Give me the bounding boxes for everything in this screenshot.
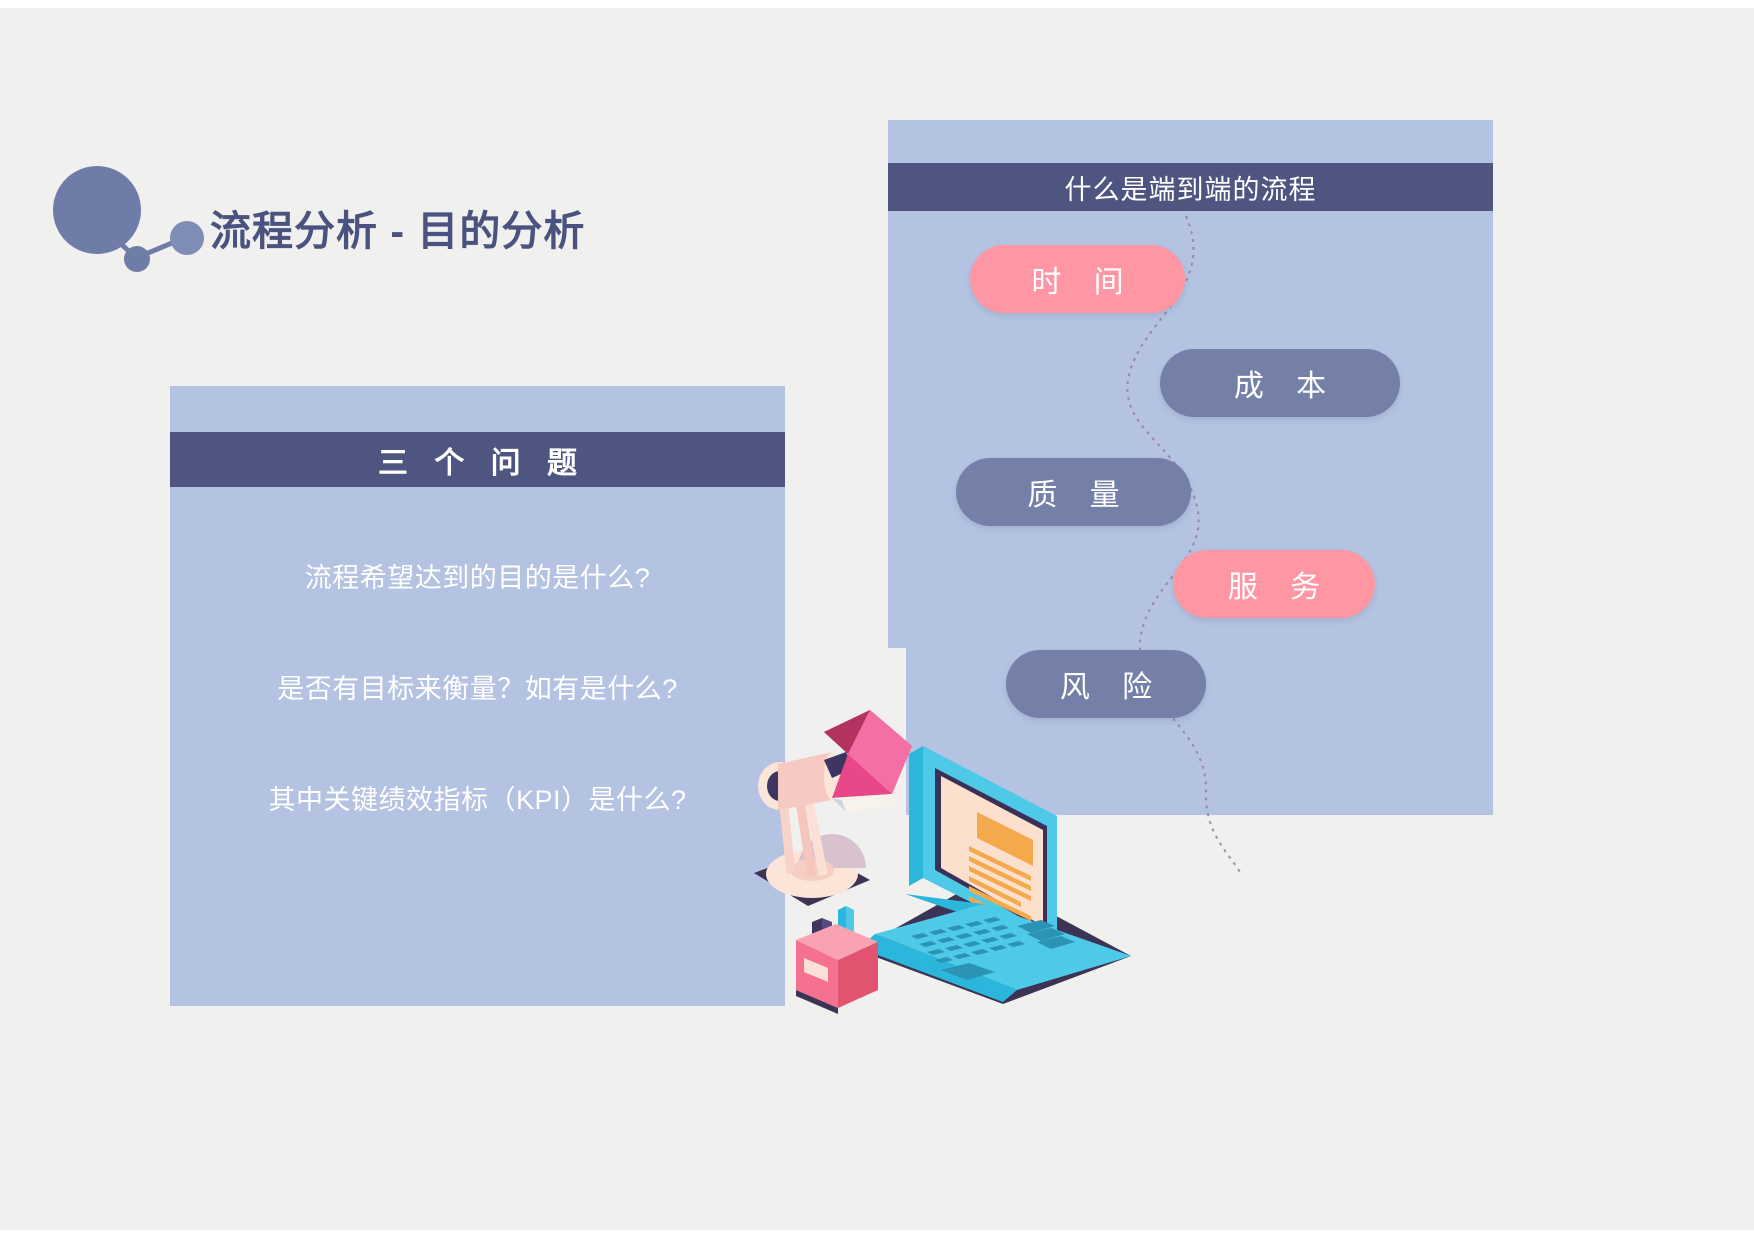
three-questions-panel: 三 个 问 题 流程希望达到的目的是什么? 是否有目标来衡量？如有是什么? 其中… xyxy=(170,386,785,1006)
process-pill-3[interactable]: 质 量 xyxy=(956,458,1191,526)
three-questions-header-label: 三 个 问 题 xyxy=(369,438,586,482)
question-item-1: 流程希望达到的目的是什么? xyxy=(305,556,651,595)
page-title: 流程分析 - 目的分析 xyxy=(210,197,585,257)
slide-title-block: 流程分析 - 目的分析 xyxy=(0,8,900,308)
slide-canvas: 流程分析 - 目的分析 三 个 问 题 流程希望达到的目的是什么? 是否有目标来… xyxy=(0,8,1754,1230)
question-item-3: 其中关键绩效指标（KPI）是什么? xyxy=(268,778,686,817)
end-to-end-process-header-label: 什么是端到端的流程 xyxy=(1065,168,1317,207)
question-list: 流程希望达到的目的是什么? 是否有目标来衡量？如有是什么? 其中关键绩效指标（K… xyxy=(170,556,785,817)
end-to-end-process-header: 什么是端到端的流程 xyxy=(888,163,1493,211)
pen-holder-icon xyxy=(782,896,892,1026)
process-pill-4[interactable]: 服 务 xyxy=(1173,550,1375,618)
question-item-2: 是否有目标来衡量？如有是什么? xyxy=(277,667,678,706)
desk-illustration xyxy=(700,648,1120,1048)
process-pill-2[interactable]: 成 本 xyxy=(1160,349,1400,417)
three-questions-header: 三 个 问 题 xyxy=(170,432,785,487)
process-pill-1[interactable]: 时 间 xyxy=(970,245,1185,313)
